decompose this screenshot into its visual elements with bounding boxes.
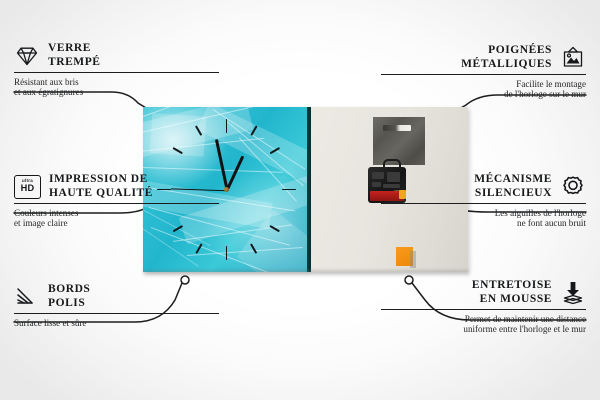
ultra-hd-icon: ultra HD [14, 175, 41, 199]
feature-desc: Résistant aux bris [14, 77, 219, 88]
feature-title: ENTRETOISE [472, 279, 552, 293]
divider [381, 309, 586, 310]
feature-bords-polis: BORDS POLIS Surface lisse et sûre [14, 283, 219, 328]
feature-title: MÉCANISME [474, 173, 552, 187]
feature-verre-trempe: VERRE TREMPÉ Résistant aux bris et aux é… [14, 42, 219, 98]
feature-title-2: TREMPÉ [48, 56, 101, 70]
feature-title-2: SILENCIEUX [474, 187, 552, 201]
diamond-icon [14, 43, 40, 69]
divider [14, 313, 219, 314]
polished-edges-icon [14, 284, 40, 310]
feature-mecanisme-silencieux: MÉCANISME SILENCIEUX Les aiguilles de l'… [381, 173, 586, 229]
wall-frame-hanger-icon [560, 45, 586, 71]
feature-desc: Couleurs intenses [14, 208, 219, 219]
feature-title: POIGNÉES [461, 44, 552, 58]
feature-title: IMPRESSION DE [49, 173, 153, 187]
metal-hanger-plate [373, 117, 425, 165]
feature-desc: Permet de maintenir une distance [381, 314, 586, 325]
feature-title: BORDS [48, 283, 90, 297]
feature-desc-2: uniforme entre l'horloge et le mur [381, 324, 586, 335]
feature-desc-2: de l'horloge sur le mur [381, 89, 586, 100]
hanger-slot [383, 125, 411, 131]
gear-icon [560, 174, 586, 200]
feature-desc-2: et aux égratignures [14, 87, 219, 98]
feature-poignees-metalliques: POIGNÉES MÉTALLIQUES Facilite le montage… [381, 44, 586, 100]
divider [381, 74, 586, 75]
feature-title-2: POLIS [48, 297, 90, 311]
clock-center-cap [224, 187, 229, 192]
feature-desc: Facilite le montage [381, 79, 586, 90]
product-shadow [143, 270, 469, 277]
infographic-canvas: VERRE TREMPÉ Résistant aux bris et aux é… [0, 0, 600, 400]
feature-impression-haute-qualite: ultra HD IMPRESSION DE HAUTE QUALITÉ Cou… [14, 173, 219, 229]
feature-entretoise-en-mousse: ENTRETOISE EN MOUSSE Permet de maintenir… [381, 279, 586, 335]
feature-title: VERRE [48, 42, 101, 56]
foam-spacer-arrow-icon [560, 280, 586, 306]
divider [381, 203, 586, 204]
feature-desc: Surface lisse et sûre [14, 318, 219, 329]
feature-desc-2: et image claire [14, 218, 219, 229]
feature-title-2: EN MOUSSE [472, 293, 552, 307]
feature-desc: Les aiguilles de l'horloge [381, 208, 586, 219]
feature-title-2: MÉTALLIQUES [461, 58, 552, 72]
ultra-hd-icon-main-label: HD [21, 184, 35, 193]
foam-spacer-shadow [410, 251, 416, 268]
divider [14, 203, 219, 204]
divider [14, 72, 219, 73]
feature-title-2: HAUTE QUALITÉ [49, 187, 153, 201]
feature-desc-2: ne font aucun bruit [381, 218, 586, 229]
